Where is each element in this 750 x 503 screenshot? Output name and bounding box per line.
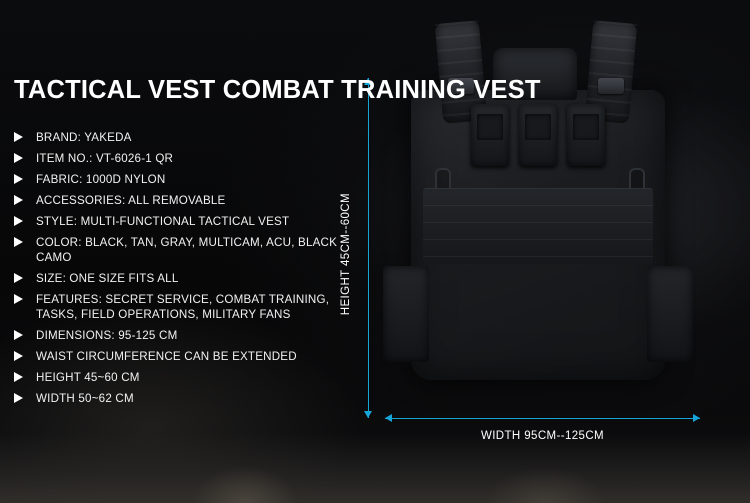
vest-mag-pouch-flap-3 (573, 114, 599, 140)
width-dimension-label: WIDTH 95CM--125CM (385, 430, 700, 442)
list-item-label: DIMENSIONS: 95-125 CM (36, 328, 344, 343)
vest-mag-pouch-flap-2 (525, 114, 551, 140)
vest-mag-pouch-2 (519, 104, 557, 166)
triangle-bullet-icon (14, 195, 23, 205)
specification-list: BRAND: YAKEDA ITEM NO.: VT-6026-1 QR FAB… (14, 130, 344, 412)
triangle-bullet-icon (14, 273, 23, 283)
list-item-label: FEATURES: SECRET SERVICE, COMBAT TRAININ… (36, 292, 344, 322)
list-item: WAIST CIRCUMFERENCE CAN BE EXTENDED (14, 349, 344, 364)
triangle-bullet-icon (14, 237, 23, 247)
vest-buckle-right (598, 78, 624, 94)
list-item: BRAND: YAKEDA (14, 130, 344, 145)
list-item: FABRIC: 1000D NYLON (14, 172, 344, 187)
list-item-label: STYLE: MULTI-FUNCTIONAL TACTICAL VEST (36, 214, 344, 229)
list-item: FEATURES: SECRET SERVICE, COMBAT TRAININ… (14, 292, 344, 322)
vest-molle-webbing (423, 188, 653, 264)
triangle-bullet-icon (14, 174, 23, 184)
vest-cummerbund-right (647, 266, 693, 362)
list-item: DIMENSIONS: 95-125 CM (14, 328, 344, 343)
list-item: COLOR: BLACK, TAN, GRAY, MULTICAM, ACU, … (14, 235, 344, 265)
vest-mag-pouch-3 (567, 104, 605, 166)
list-item: ACCESSORIES: ALL REMOVABLE (14, 193, 344, 208)
triangle-bullet-icon (14, 216, 23, 226)
triangle-bullet-icon (14, 351, 23, 361)
list-item: STYLE: MULTI-FUNCTIONAL TACTICAL VEST (14, 214, 344, 229)
background-figure-left (180, 443, 310, 503)
vest-cummerbund-left (383, 266, 429, 362)
triangle-bullet-icon (14, 330, 23, 340)
vest-mag-pouch-1 (471, 104, 509, 166)
triangle-bullet-icon (14, 393, 23, 403)
product-spec-banner: HEIGHT 45CM--60CM WIDTH 95CM--125CM TACT… (0, 0, 750, 503)
list-item-label: WIDTH 50~62 CM (36, 391, 344, 406)
list-item-label: ACCESSORIES: ALL REMOVABLE (36, 193, 344, 208)
list-item-label: FABRIC: 1000D NYLON (36, 172, 344, 187)
list-item-label: COLOR: BLACK, TAN, GRAY, MULTICAM, ACU, … (36, 235, 344, 265)
list-item: SIZE: ONE SIZE FITS ALL (14, 271, 344, 286)
list-item-label: HEIGHT 45~60 CM (36, 370, 344, 385)
triangle-bullet-icon (14, 132, 23, 142)
triangle-bullet-icon (14, 294, 23, 304)
width-dimension-line (385, 418, 700, 419)
list-item-label: ITEM NO.: VT-6026-1 QR (36, 151, 344, 166)
list-item-label: WAIST CIRCUMFERENCE CAN BE EXTENDED (36, 349, 344, 364)
list-item: ITEM NO.: VT-6026-1 QR (14, 151, 344, 166)
list-item: HEIGHT 45~60 CM (14, 370, 344, 385)
height-dimension-line (368, 78, 369, 418)
list-item: WIDTH 50~62 CM (14, 391, 344, 406)
triangle-bullet-icon (14, 372, 23, 382)
list-item-label: BRAND: YAKEDA (36, 130, 344, 145)
background-figure-right (470, 443, 620, 503)
background-floor (0, 433, 750, 503)
vest-mag-pouch-flap-1 (477, 114, 503, 140)
list-item-label: SIZE: ONE SIZE FITS ALL (36, 271, 344, 286)
page-title: TACTICAL VEST COMBAT TRAINING VEST (14, 76, 541, 105)
triangle-bullet-icon (14, 153, 23, 163)
